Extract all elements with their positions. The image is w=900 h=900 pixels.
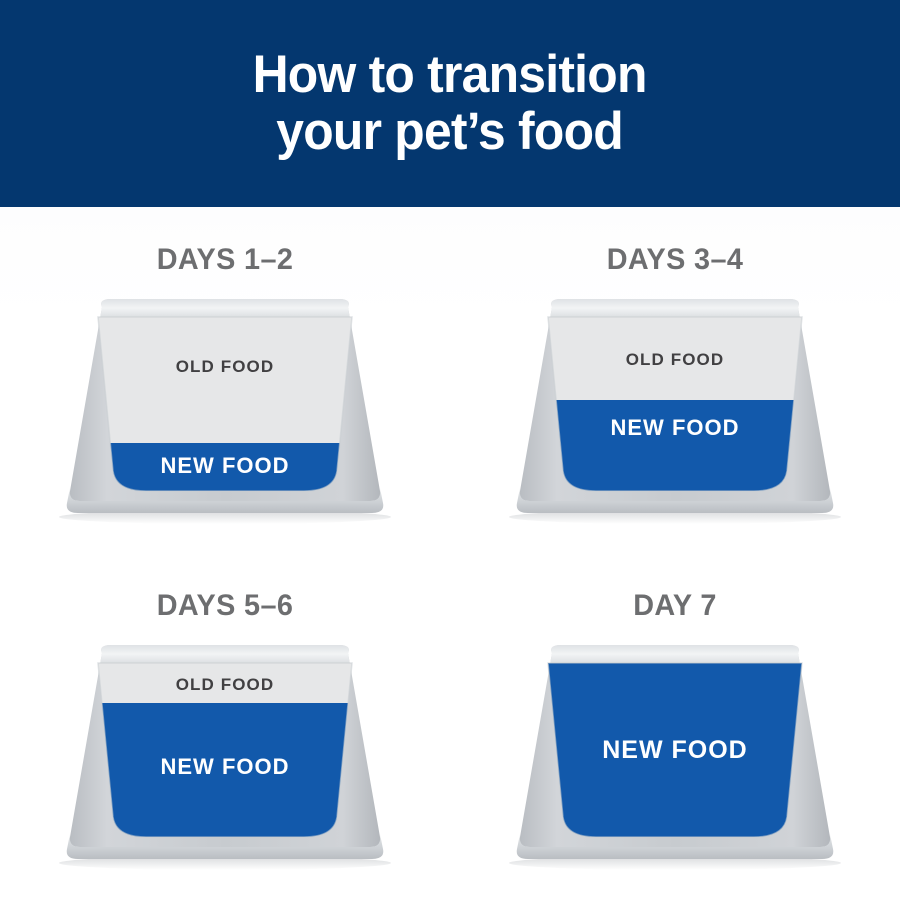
bowl-rim <box>550 299 800 319</box>
step-card-days-1-2: DAYS 1–2 <box>0 207 450 553</box>
bowl-days-5-6: OLD FOOD NEW FOOD <box>40 641 410 873</box>
page-title-line-2: your pet’s food <box>277 102 624 161</box>
bowl-graphic <box>40 641 410 873</box>
bowl-cavity <box>80 659 370 841</box>
page-title: How to transitionyour pet’s food <box>234 47 666 159</box>
bowl-graphic <box>490 641 860 873</box>
step-title: DAYS 1–2 <box>9 243 441 277</box>
bowl-rim <box>100 645 350 665</box>
bowl-rim <box>100 299 350 319</box>
step-card-days-3-4: DAYS 3–4 <box>450 207 900 553</box>
step-title: DAY 7 <box>459 589 891 623</box>
step-title: DAYS 5–6 <box>9 589 441 623</box>
page-title-line-1: How to transition <box>253 45 647 104</box>
bowl-graphic <box>40 295 410 527</box>
step-card-days-5-6: DAYS 5–6 <box>0 553 450 899</box>
bowl-cavity <box>530 659 820 841</box>
bowl-cavity <box>530 313 820 495</box>
page-header: How to transitionyour pet’s food <box>0 0 900 207</box>
bowl-days-1-2: OLD FOOD NEW FOOD <box>40 295 410 527</box>
new-food-fill <box>530 659 820 841</box>
bowl-day-7: NEW FOOD <box>490 641 860 873</box>
step-title: DAYS 3–4 <box>459 243 891 277</box>
bowl-graphic <box>490 295 860 527</box>
bowl-cavity <box>80 313 370 495</box>
steps-grid: DAYS 1–2 <box>0 207 900 900</box>
step-card-day-7: DAY 7 <box>450 553 900 899</box>
new-food-fill <box>530 400 820 495</box>
steps-board: DAYS 1–2 <box>0 207 900 900</box>
bowl-rim <box>550 645 800 665</box>
bowl-days-3-4: OLD FOOD NEW FOOD <box>490 295 860 527</box>
new-food-fill <box>80 703 370 841</box>
